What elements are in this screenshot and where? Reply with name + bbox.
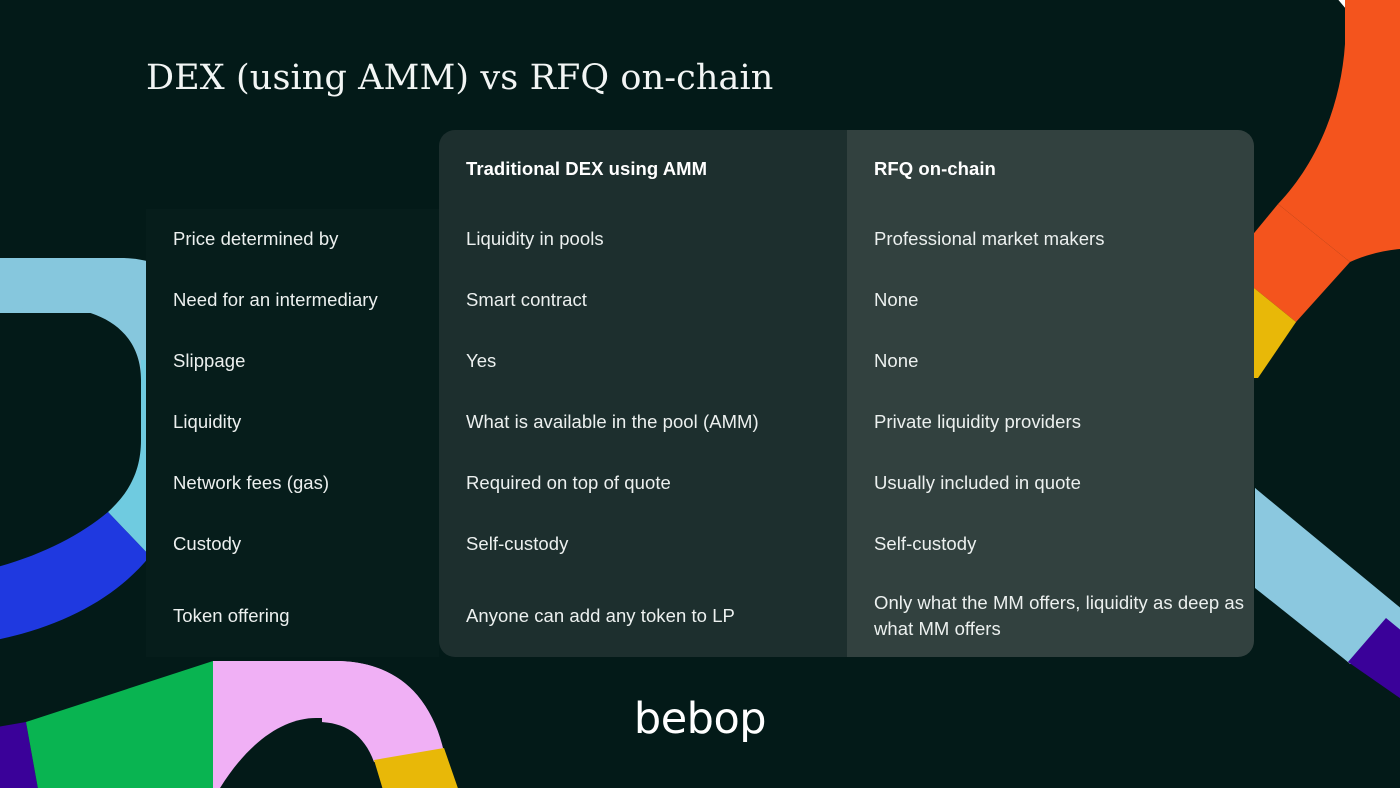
table-cell-attribute: Liquidity xyxy=(146,392,439,453)
table-cell-rfq: Self-custody xyxy=(847,514,1254,575)
table-cell-rfq: Professional market makers xyxy=(847,209,1254,270)
table-cell-dex: Smart contract xyxy=(439,270,847,331)
table-cell-dex: Yes xyxy=(439,331,847,392)
table-cell-rfq: Private liquidity providers xyxy=(847,392,1254,453)
table-cell-attribute: Slippage xyxy=(146,331,439,392)
table-cell-dex: Required on top of quote xyxy=(439,453,847,514)
table-cell-attribute: Price determined by xyxy=(146,209,439,270)
table-cell-rfq: None xyxy=(847,331,1254,392)
bebop-logo: bebop xyxy=(0,694,1400,744)
table-cell-attribute: Token offering xyxy=(146,575,439,657)
table-corner-cell xyxy=(146,130,439,209)
table-cell-dex: What is available in the pool (AMM) xyxy=(439,392,847,453)
table-header-dex: Traditional DEX using AMM xyxy=(439,130,847,209)
table-cell-dex: Self-custody xyxy=(439,514,847,575)
table-cell-attribute: Network fees (gas) xyxy=(146,453,439,514)
table-cell-attribute: Custody xyxy=(146,514,439,575)
table-cell-rfq: Usually included in quote xyxy=(847,453,1254,514)
table-cell-attribute: Need for an intermediary xyxy=(146,270,439,331)
slide-content: DEX (using AMM) vs RFQ on-chain Traditio… xyxy=(0,0,1400,788)
table-cell-dex: Liquidity in pools xyxy=(439,209,847,270)
table-cell-rfq: None xyxy=(847,270,1254,331)
table-cell-rfq: Only what the MM offers, liquidity as de… xyxy=(847,575,1254,657)
page-title: DEX (using AMM) vs RFQ on-chain xyxy=(146,58,773,98)
table-header-rfq: RFQ on-chain xyxy=(847,130,1254,209)
table-cell-dex: Anyone can add any token to LP xyxy=(439,575,847,657)
comparison-table: Traditional DEX using AMMRFQ on-chainPri… xyxy=(146,130,1254,657)
